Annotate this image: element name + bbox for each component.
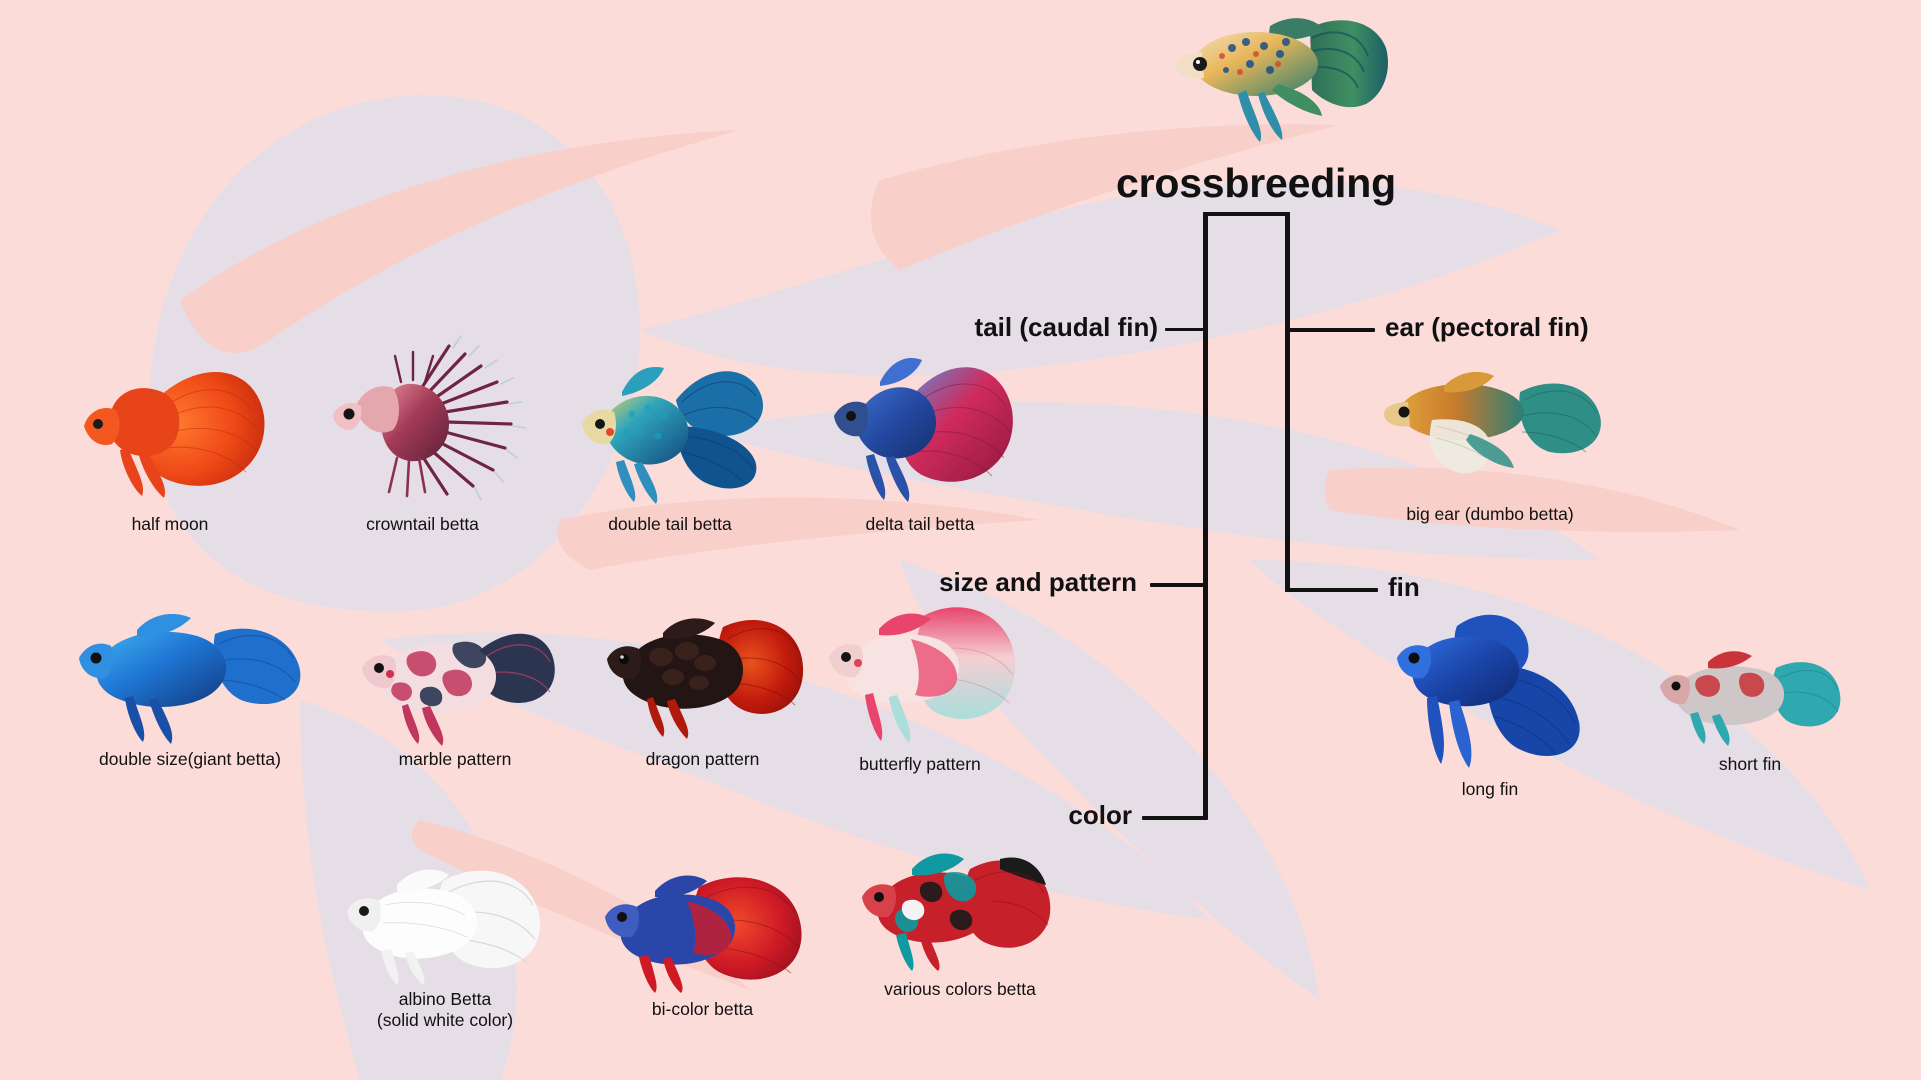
specimen-crowntail: crowntail betta bbox=[315, 320, 530, 535]
specimen-label-various-colors: various colors betta bbox=[884, 979, 1036, 1000]
category-label-size-and-pattern: size and pattern bbox=[905, 567, 1137, 598]
bracket-right-trunk bbox=[1285, 212, 1290, 592]
bracket-left-trunk bbox=[1203, 212, 1208, 820]
specimen-bi-color: bi-color betta bbox=[595, 865, 810, 1020]
specimen-short-fin: short fin bbox=[1650, 640, 1850, 775]
specimen-various-colors: various colors betta bbox=[850, 845, 1070, 1000]
tick-color bbox=[1142, 816, 1205, 820]
specimen-label-crowntail: crowntail betta bbox=[366, 514, 479, 535]
specimen-label-delta-tail: delta tail betta bbox=[866, 514, 975, 535]
specimen-label-giant: double size(giant betta) bbox=[99, 749, 281, 770]
category-label-fin: fin bbox=[1388, 572, 1420, 603]
tick-fin bbox=[1285, 588, 1378, 592]
specimen-art-crowntail bbox=[315, 320, 530, 510]
bracket-top-connector bbox=[1203, 212, 1290, 216]
specimen-art-half-moon bbox=[70, 330, 270, 510]
specimen-label-marble: marble pattern bbox=[399, 749, 512, 770]
specimen-art-albino bbox=[335, 855, 555, 985]
specimen-art-short-fin bbox=[1650, 640, 1850, 750]
tick-ear bbox=[1285, 328, 1375, 332]
specimen-label-bi-color: bi-color betta bbox=[652, 999, 753, 1020]
specimen-label-albino: albino Betta (solid white color) bbox=[377, 989, 513, 1031]
page-title: crossbreeding bbox=[1116, 160, 1396, 207]
specimen-long-fin: long fin bbox=[1385, 600, 1595, 800]
category-label-color: color bbox=[960, 800, 1132, 831]
specimen-label-half-moon: half moon bbox=[132, 514, 209, 535]
specimen-art-bi-color bbox=[595, 865, 810, 995]
specimen-albino: albino Betta (solid white color) bbox=[335, 855, 555, 1031]
tick-size-and-pattern bbox=[1150, 583, 1205, 587]
hero-fish-crossbreeding bbox=[1160, 8, 1390, 148]
specimen-art-dragon bbox=[595, 605, 810, 745]
infographic-canvas: crossbreeding tail (caudal fin) ear (pec… bbox=[0, 0, 1921, 1080]
specimen-art-double-tail bbox=[570, 340, 770, 510]
specimen-butterfly: butterfly pattern bbox=[815, 595, 1025, 775]
specimen-half-moon: half moon bbox=[70, 330, 270, 535]
specimen-dragon: dragon pattern bbox=[595, 605, 810, 770]
specimen-giant: double size(giant betta) bbox=[65, 600, 315, 770]
specimen-art-marble bbox=[350, 610, 560, 745]
specimen-art-giant bbox=[65, 600, 315, 745]
specimen-big-ear: big ear (dumbo betta) bbox=[1370, 350, 1610, 525]
specimen-double-tail: double tail betta bbox=[570, 340, 770, 535]
specimen-marble: marble pattern bbox=[350, 610, 560, 770]
specimen-art-butterfly bbox=[815, 595, 1025, 750]
specimen-label-dragon: dragon pattern bbox=[646, 749, 760, 770]
specimen-art-long-fin bbox=[1385, 600, 1595, 775]
specimen-label-short-fin: short fin bbox=[1719, 754, 1781, 775]
specimen-delta-tail: delta tail betta bbox=[820, 330, 1020, 535]
specimen-art-various-colors bbox=[850, 845, 1070, 975]
category-label-ear: ear (pectoral fin) bbox=[1385, 312, 1589, 343]
specimen-label-butterfly: butterfly pattern bbox=[859, 754, 981, 775]
specimen-label-double-tail: double tail betta bbox=[608, 514, 732, 535]
tick-tail bbox=[1165, 328, 1205, 331]
specimen-label-long-fin: long fin bbox=[1462, 779, 1518, 800]
specimen-label-big-ear: big ear (dumbo betta) bbox=[1406, 504, 1573, 525]
specimen-art-delta-tail bbox=[820, 330, 1020, 510]
hero-fish-art bbox=[1160, 8, 1390, 148]
specimen-art-big-ear bbox=[1370, 350, 1610, 500]
